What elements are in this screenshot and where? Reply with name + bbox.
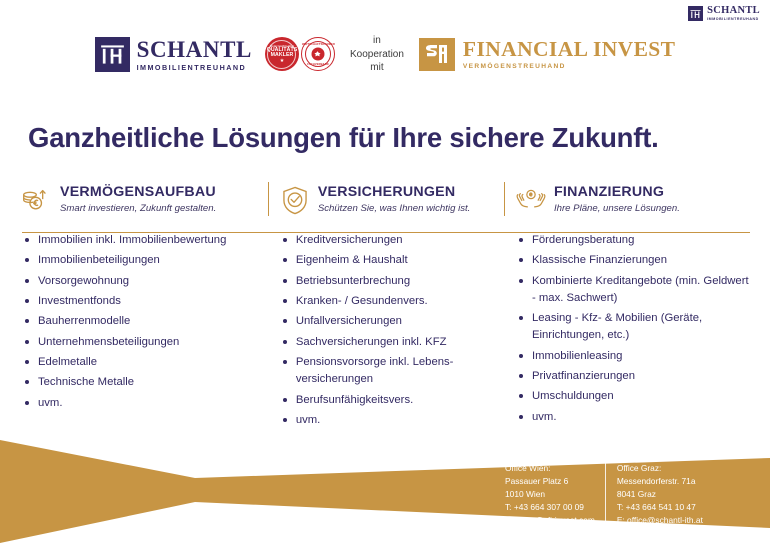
cooperation-line-1: in: [350, 34, 404, 48]
header-logo-bar: SCHANTL IMMOBILIENTREUHAND Österreichisc…: [0, 34, 770, 75]
list-item: Kreditversicherungen: [280, 232, 504, 249]
mini-logo-subtitle: IMMOBILIENTREUHAND: [707, 18, 760, 22]
office-title: Office Graz:: [617, 462, 703, 475]
page-headline: Ganzheitliche Lösungen für Ihre sichere …: [28, 122, 659, 154]
service-list: Förderungsberatung Klassische Finanzieru…: [516, 232, 750, 426]
coins-euro-growth-icon: [22, 185, 52, 215]
list-item: Immobilienbeteiligungen: [22, 252, 268, 269]
office-street: Messendorferstr. 71a: [617, 475, 703, 488]
seal-text-bottom: FACHVERBAND: [302, 63, 334, 66]
wirtschaftskammer-seal-icon: WIRTSCHAFTSKAMMER FACHVERBAND: [301, 37, 335, 71]
list-item: uvm.: [280, 412, 504, 429]
quality-seals: Österreichischer QUALITÄTS MAKLER ★ WIRT…: [265, 37, 335, 71]
shield-check-icon: [280, 185, 310, 215]
office-wien-block: Office Wien: Passauer Platz 6 1010 Wien …: [505, 462, 605, 527]
list-item: Unfallversicherungen: [280, 313, 504, 330]
brand-name: SCHANTL: [137, 38, 252, 61]
austria-eagle-icon: [311, 48, 324, 61]
seal-text-top: WIRTSCHAFTSKAMMER: [302, 43, 334, 46]
column-title: VERMÖGENSAUFBAU: [60, 185, 216, 201]
cooperation-label: in Kooperation mit: [350, 34, 404, 75]
column-title: VERSICHERUNGEN: [318, 185, 471, 201]
list-item: Pensionsvorsorge inkl. Lebens-versicheru…: [280, 354, 504, 388]
list-item: Leasing - Kfz- & Mobilien (Geräte, Einri…: [516, 310, 750, 344]
column-tagline: Ihre Pläne, unsere Lösungen.: [554, 204, 680, 215]
ith-mark-icon: [688, 6, 703, 21]
list-item: Immobilien inkl. Immobilienbewertung: [22, 232, 268, 249]
column-vertical-divider: [504, 182, 505, 216]
cooperation-line-3: mit: [350, 61, 404, 75]
office-email[interactable]: E: office@schantl-ith.at: [617, 514, 703, 527]
qualitaets-makler-seal-icon: Österreichischer QUALITÄTS MAKLER ★: [265, 37, 299, 71]
mini-logo-schantl: SCHANTL IMMOBILIENTREUHAND: [688, 6, 760, 21]
column-finanzierung: FINANZIERUNG Ihre Pläne, unsere Lösungen…: [504, 182, 750, 432]
column-vertical-divider: [268, 182, 269, 216]
column-title: FINANZIERUNG: [554, 185, 680, 201]
office-street: Passauer Platz 6: [505, 475, 595, 488]
list-item: Umschuldungen: [516, 388, 750, 405]
column-tagline: Smart investieren, Zukunft gestalten.: [60, 204, 216, 215]
list-item: Vorsorgewohnung: [22, 273, 268, 290]
list-item: Sachversicherungen inkl. KFZ: [280, 334, 504, 351]
service-list: Immobilien inkl. Immobilienbewertung Imm…: [22, 232, 268, 412]
column-tagline: Schützen Sie, was Ihnen wichtig ist.: [318, 204, 471, 215]
list-item: uvm.: [516, 409, 750, 426]
column-header: VERSICHERUNGEN Schützen Sie, was Ihnen w…: [280, 182, 504, 218]
service-list: Kreditversicherungen Eigenheim & Haushal…: [280, 232, 504, 429]
ith-mark-icon: [95, 37, 130, 72]
column-header: VERMÖGENSAUFBAU Smart investieren, Zukun…: [22, 182, 268, 218]
list-item: Berufsunfähigkeitsvers.: [280, 392, 504, 409]
footer-contacts: Office Wien: Passauer Platz 6 1010 Wien …: [505, 462, 703, 527]
list-item: Betriebsunterbrechung: [280, 273, 504, 290]
brand-financial-invest: FINANCIAL INVEST VERMÖGENSTREUHAND: [419, 38, 676, 71]
office-graz-block: Office Graz: Messendorferstr. 71a 8041 G…: [605, 462, 703, 527]
list-item: Unternehmensbeteiligungen: [22, 334, 268, 351]
list-item: Bauherrenmodelle: [22, 313, 268, 330]
list-item: Kranken- / Gesundenvers.: [280, 293, 504, 310]
list-item: Klassische Finanzierungen: [516, 252, 750, 269]
list-item: Investmentfonds: [22, 293, 268, 310]
list-item: Technische Metalle: [22, 374, 268, 391]
brand-schantl: SCHANTL IMMOBILIENTREUHAND: [95, 37, 252, 72]
cooperation-line-2: Kooperation: [350, 48, 404, 62]
list-item: Privatfinanzierungen: [516, 368, 750, 385]
brand-subtitle: IMMOBILIENTREUHAND: [137, 64, 252, 71]
office-city: 8041 Graz: [617, 488, 703, 501]
office-phone[interactable]: T: +43 664 541 10 47: [617, 501, 703, 514]
office-phone[interactable]: T: +43 664 307 00 09: [505, 501, 595, 514]
list-item: Eigenheim & Haushalt: [280, 252, 504, 269]
office-city: 1010 Wien: [505, 488, 595, 501]
service-columns: VERMÖGENSAUFBAU Smart investieren, Zukun…: [22, 182, 750, 432]
list-item: uvm.: [22, 395, 268, 412]
list-item: Kombinierte Kreditangebote (min. Geldwer…: [516, 273, 750, 307]
office-title: Office Wien:: [505, 462, 595, 475]
column-header: FINANZIERUNG Ihre Pläne, unsere Lösungen…: [516, 182, 750, 218]
seal-line4: ★: [280, 59, 284, 64]
list-item: Förderungsberatung: [516, 232, 750, 249]
list-item: Edelmetalle: [22, 354, 268, 371]
column-vermoegensaufbau: VERMÖGENSAUFBAU Smart investieren, Zukun…: [22, 182, 268, 432]
brand2-name: FINANCIAL INVEST: [463, 39, 676, 61]
list-item: Immobilienleasing: [516, 348, 750, 365]
mini-logo-name: SCHANTL: [707, 6, 760, 17]
office-email[interactable]: E: office@sfi-invest.com: [505, 514, 595, 527]
hands-coin-icon: [516, 185, 546, 215]
sfi-mark-icon: [419, 38, 455, 71]
column-versicherungen: VERSICHERUNGEN Schützen Sie, was Ihnen w…: [268, 182, 504, 432]
brand2-subtitle: VERMÖGENSTREUHAND: [463, 63, 676, 70]
